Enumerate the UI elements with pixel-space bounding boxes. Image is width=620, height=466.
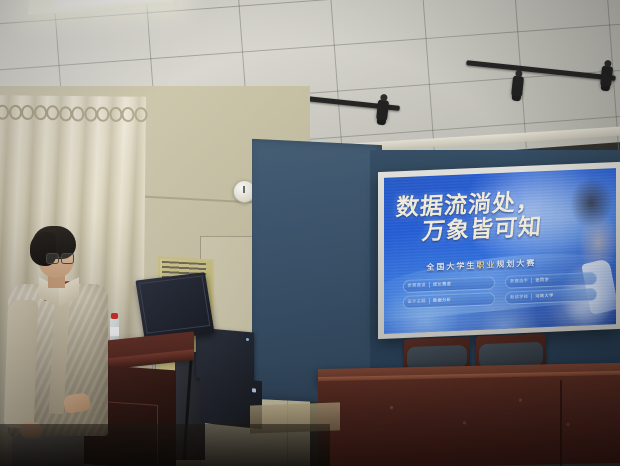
confidence-monitor bbox=[135, 272, 214, 342]
navy-wall-panel-left bbox=[252, 139, 382, 405]
table-panel-seam bbox=[560, 380, 562, 466]
slide-subtitle-suffix: 规划大赛 bbox=[496, 258, 536, 269]
curtain-ring bbox=[71, 106, 85, 122]
slide-pill-value: 河南大学 bbox=[535, 293, 553, 300]
status-led-icon bbox=[252, 388, 256, 392]
slide-title: 数据流淌处， 万象皆可知 bbox=[396, 188, 577, 245]
slide-pill: 参赛赛道 成长赛道 bbox=[403, 276, 495, 293]
presenter-arm bbox=[4, 300, 38, 429]
glasses-icon bbox=[46, 253, 74, 262]
slide-pill-value: 数据分析 bbox=[433, 297, 451, 304]
bottle-cap-icon bbox=[111, 313, 118, 319]
slide-pill-separator bbox=[531, 294, 532, 300]
curtain-ring bbox=[21, 105, 35, 121]
slide-pill-key: 就读学校 bbox=[510, 294, 528, 301]
floor-shadow-area bbox=[0, 424, 330, 466]
slide-pill-key: 参赛赛道 bbox=[408, 283, 426, 290]
slide-pill-value: 成长赛道 bbox=[433, 281, 451, 288]
conference-room-photo: 数据流淌处， 万象皆可知 全国大学生职业规划大赛 参赛赛道 成长赛道 参赛选手 … bbox=[0, 0, 620, 466]
slide-pill-value: 张同学 bbox=[535, 277, 549, 284]
slide-pill-key: 设计主题 bbox=[408, 299, 426, 306]
projection-screen-frame: 数据流淌处， 万象皆可知 全国大学生职业规划大赛 参赛赛道 成长赛道 参赛选手 … bbox=[378, 162, 620, 339]
slide-pill: 参赛选手 张同学 bbox=[505, 272, 597, 289]
slide-pill-separator bbox=[531, 278, 532, 284]
monitor-screen bbox=[139, 275, 211, 333]
status-led-icon bbox=[246, 338, 249, 341]
curtain-ring bbox=[33, 105, 47, 121]
bottle-label bbox=[110, 327, 119, 336]
curtain-ring bbox=[83, 106, 97, 122]
slide-pill-separator bbox=[429, 282, 430, 288]
slide-pill-separator bbox=[429, 298, 430, 304]
slide-pill-key: 参赛选手 bbox=[510, 278, 528, 285]
curtain-ring bbox=[8, 105, 22, 121]
curtain-ring bbox=[58, 105, 72, 121]
slide-subtitle-highlight: 职业 bbox=[476, 260, 496, 270]
curtain-ring bbox=[108, 106, 122, 122]
projection-screen: 数据流淌处， 万象皆可知 全国大学生职业规划大赛 参赛赛道 成长赛道 参赛选手 … bbox=[384, 168, 616, 334]
table-reflections bbox=[330, 385, 610, 451]
slide-subtitle-prefix: 全国大学生 bbox=[426, 261, 476, 272]
curtain-ring bbox=[46, 105, 60, 121]
